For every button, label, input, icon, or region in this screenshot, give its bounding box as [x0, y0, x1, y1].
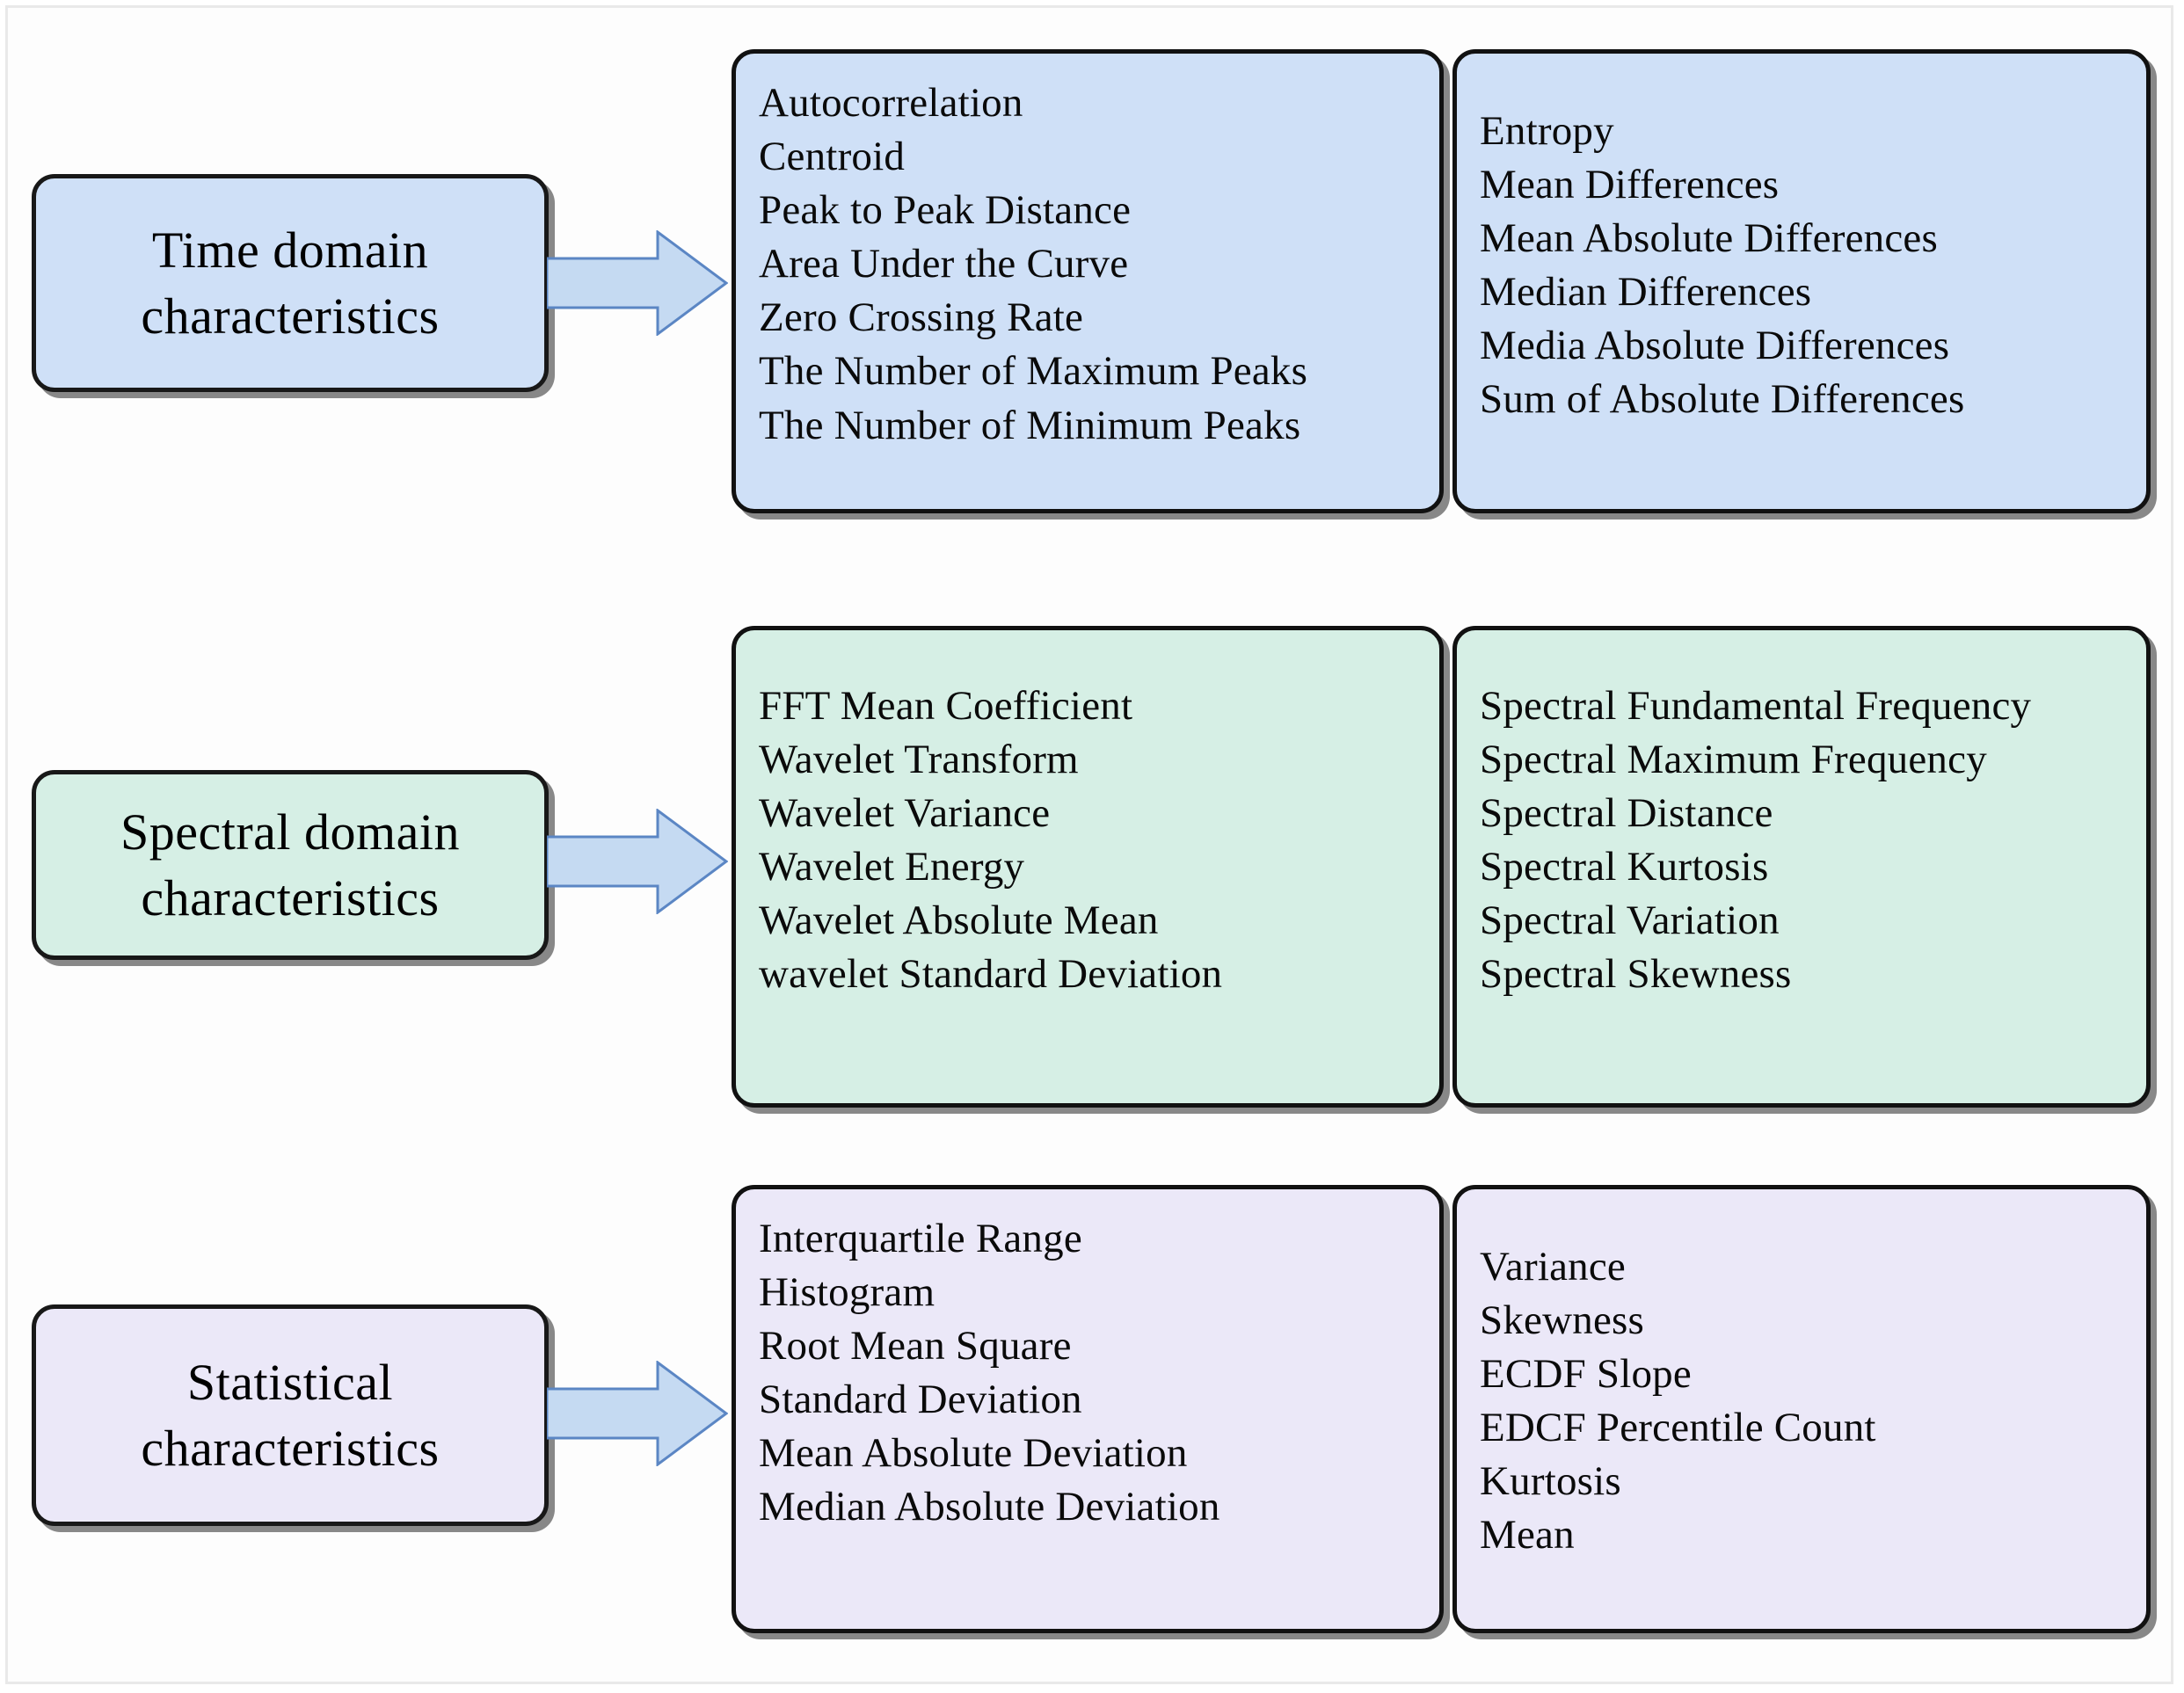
feature-list-spectral-left: FFT Mean Coefficient Wavelet Transform W… — [759, 679, 1439, 1002]
label-box-statistical[interactable]: Statisticalcharacteristics — [32, 1304, 549, 1526]
label-box-spectral-domain-text: Spectral domaincharacteristics — [48, 799, 532, 932]
list-item: The Number of Maximum Peaks — [759, 345, 1439, 398]
feature-list-time-right: Entropy Mean Differences Mean Absolute D… — [1480, 105, 2146, 427]
list-item: The Number of Minimum Peaks — [759, 399, 1439, 453]
list-item: Peak to Peak Distance — [759, 184, 1439, 237]
label-line-1: Spectral domain — [120, 803, 460, 861]
list-item: Wavelet Absolute Mean — [759, 894, 1439, 948]
list-item: Wavelet Transform — [759, 733, 1439, 787]
list-item: Mean — [1480, 1508, 2146, 1562]
list-box-time-domain-right[interactable]: Entropy Mean Differences Mean Absolute D… — [1452, 49, 2151, 513]
arrow-spectral-domain — [547, 809, 728, 914]
list-item: wavelet Standard Deviation — [759, 948, 1439, 1001]
list-item: Media Absolute Differences — [1480, 319, 2146, 373]
list-item: Spectral Variation — [1480, 894, 2146, 948]
arrow-shape — [547, 810, 726, 912]
list-item: Autocorrelation — [759, 76, 1439, 130]
list-item: Spectral Skewness — [1480, 948, 2146, 1001]
list-item: Wavelet Energy — [759, 840, 1439, 894]
arrow-time-domain — [547, 230, 728, 336]
label-line-2: characteristics — [141, 1420, 439, 1477]
label-box-statistical-text: Statisticalcharacteristics — [48, 1349, 532, 1482]
list-item: Mean Absolute Differences — [1480, 212, 2146, 265]
arrow-shape — [547, 1362, 726, 1464]
list-item: FFT Mean Coefficient — [759, 679, 1439, 733]
list-box-statistical-left[interactable]: Interquartile Range Histogram Root Mean … — [732, 1185, 1444, 1633]
list-item: Interquartile Range — [759, 1212, 1439, 1266]
label-box-time-domain[interactable]: Time domaincharacteristics — [32, 174, 549, 392]
list-box-time-domain-left[interactable]: Autocorrelation Centroid Peak to Peak Di… — [732, 49, 1444, 513]
list-item: Entropy — [1480, 105, 2146, 158]
list-item: Sum of Absolute Differences — [1480, 373, 2146, 426]
list-item: Histogram — [759, 1266, 1439, 1319]
list-item: Spectral Kurtosis — [1480, 840, 2146, 894]
label-line-1: Time domain — [152, 222, 428, 279]
list-item: Spectral Fundamental Frequency — [1480, 679, 2146, 733]
feature-list-statistical-right: Variance Skewness ECDF Slope EDCF Percen… — [1480, 1240, 2146, 1563]
label-box-spectral-domain[interactable]: Spectral domaincharacteristics — [32, 770, 549, 960]
list-box-statistical-right[interactable]: Variance Skewness ECDF Slope EDCF Percen… — [1452, 1185, 2151, 1633]
list-item: Area Under the Curve — [759, 237, 1439, 291]
label-line-1: Statistical — [187, 1354, 393, 1411]
list-item: Zero Crossing Rate — [759, 291, 1439, 345]
list-box-spectral-domain-right[interactable]: Spectral Fundamental Frequency Spectral … — [1452, 626, 2151, 1108]
label-box-time-domain-text: Time domaincharacteristics — [48, 217, 532, 350]
feature-list-statistical-left: Interquartile Range Histogram Root Mean … — [759, 1212, 1439, 1535]
list-item: Spectral Distance — [1480, 787, 2146, 840]
arrow-statistical — [547, 1361, 728, 1466]
list-item: Centroid — [759, 130, 1439, 184]
label-line-2: characteristics — [141, 287, 439, 345]
diagram-canvas: Time domaincharacteristics Autocorrelati… — [0, 0, 2184, 1693]
list-item: Spectral Maximum Frequency — [1480, 733, 2146, 787]
list-item: Mean Differences — [1480, 158, 2146, 212]
label-line-2: characteristics — [141, 869, 439, 926]
list-item: Variance — [1480, 1240, 2146, 1294]
list-box-spectral-domain-left[interactable]: FFT Mean Coefficient Wavelet Transform W… — [732, 626, 1444, 1108]
arrow-shape — [547, 232, 726, 334]
list-item: Kurtosis — [1480, 1455, 2146, 1508]
list-item: EDCF Percentile Count — [1480, 1401, 2146, 1455]
list-item: Standard Deviation — [759, 1373, 1439, 1427]
list-item: Wavelet Variance — [759, 787, 1439, 840]
list-item: Median Differences — [1480, 265, 2146, 319]
feature-list-spectral-right: Spectral Fundamental Frequency Spectral … — [1480, 679, 2146, 1002]
list-item: Root Mean Square — [759, 1319, 1439, 1373]
list-item: Mean Absolute Deviation — [759, 1427, 1439, 1480]
list-item: Median Absolute Deviation — [759, 1480, 1439, 1534]
feature-list-time-left: Autocorrelation Centroid Peak to Peak Di… — [759, 76, 1439, 453]
list-item: ECDF Slope — [1480, 1348, 2146, 1401]
list-item: Skewness — [1480, 1294, 2146, 1348]
